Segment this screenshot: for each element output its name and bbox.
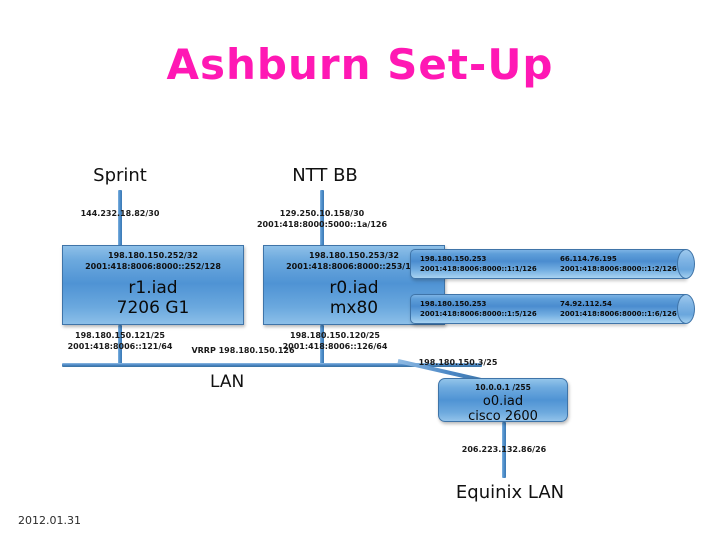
router-r1-model: 7206 G1: [117, 298, 190, 318]
router-r1-loopback-v6: 2001:418:8006:8000::252/128: [85, 262, 221, 271]
uplink-label-equinix: 206.223.132.86/26: [424, 445, 584, 456]
router-r1-name: r1.iad: [128, 278, 177, 298]
router-o0-mgmt-addr: 10.0.0.1 /255: [439, 383, 567, 393]
lan-r1-v4: 198.180.150.121/25: [75, 331, 165, 340]
tunnel-cylinder-1[interactable]: 198.180.150.253 2001:418:8006:8000::1:1/…: [410, 249, 695, 279]
uplink-equinix-v4: 206.223.132.86/26: [462, 445, 546, 454]
tunnel-1-local: 198.180.150.253 2001:418:8006:8000::1:1/…: [420, 254, 537, 274]
tunnel-2-local-v4: 198.180.150.253: [420, 300, 486, 308]
router-r0-loopback-v6: 2001:418:8006:8000::253/128: [286, 262, 422, 271]
provider-label-sprint: Sprint: [60, 165, 180, 186]
vrrp-label: VRRP 198.180.150.126: [123, 346, 363, 357]
uplink-sprint-v4: 144.232.18.82/30: [81, 209, 160, 218]
page-title: Ashburn Set-Up: [0, 40, 720, 89]
router-o0-model: cisco 2600: [468, 409, 538, 424]
router-r0-model: mx80: [330, 298, 378, 318]
router-o0-identity: o0.iad cisco 2600: [439, 394, 567, 425]
router-r0-name: r0.iad: [329, 278, 378, 298]
uplink-ntt-v4: 129.250.10.158/30: [280, 209, 364, 218]
tunnel-2-local: 198.180.150.253 2001:418:8006:8000::1:5/…: [420, 299, 537, 319]
lan-caption: LAN: [210, 372, 244, 392]
slide-date: 2012.01.31: [18, 514, 81, 527]
router-o0-name: o0.iad: [483, 394, 523, 409]
tunnel-2-remote-v4: 74.92.112.54: [560, 300, 612, 308]
tunnel-2-endcap: [677, 294, 695, 324]
uplink-ntt-v6: 2001:418:8000:5000::1a/126: [257, 220, 387, 229]
slide-canvas: Ashburn Set-Up Sprint NTT BB Equinix LAN…: [0, 0, 720, 540]
router-r0-loopback-v4: 198.180.150.253/32: [309, 251, 399, 260]
tunnel-1-remote: 66.114.76.195 2001:418:8006:8000::1:2/12…: [560, 254, 677, 274]
uplink-label-sprint: 144.232.18.82/30: [40, 209, 200, 220]
provider-label-equinix: Equinix LAN: [430, 482, 590, 503]
lan-branch-label: 198.180.150.3/25: [398, 358, 518, 369]
tunnel-1-local-v6: 2001:418:8006:8000::1:1/126: [420, 265, 537, 273]
uplink-label-ntt: 129.250.10.158/30 2001:418:8000:5000::1a…: [242, 209, 402, 231]
router-node-r1[interactable]: 198.180.150.252/32 2001:418:8006:8000::2…: [62, 245, 244, 325]
provider-label-ntt: NTT BB: [265, 165, 385, 186]
lan-r0-v4: 198.180.150.120/25: [290, 331, 380, 340]
tunnel-2-remote: 74.92.112.54 2001:418:8006:8000::1:6/126: [560, 299, 677, 319]
router-r1-loopback-v4: 198.180.150.252/32: [108, 251, 198, 260]
tunnel-1-endcap: [677, 249, 695, 279]
router-node-o0[interactable]: 10.0.0.1 /255 o0.iad cisco 2600: [438, 378, 568, 422]
tunnel-1-local-v4: 198.180.150.253: [420, 255, 486, 263]
router-r1-identity: r1.iad 7206 G1: [63, 278, 243, 318]
tunnel-2-remote-v6: 2001:418:8006:8000::1:6/126: [560, 310, 677, 318]
tunnel-2-local-v6: 2001:418:8006:8000::1:5/126: [420, 310, 537, 318]
router-r1-loopback: 198.180.150.252/32 2001:418:8006:8000::2…: [63, 251, 243, 273]
tunnel-1-remote-v4: 66.114.76.195: [560, 255, 617, 263]
tunnel-cylinder-2[interactable]: 198.180.150.253 2001:418:8006:8000::1:5/…: [410, 294, 695, 324]
tunnel-1-remote-v6: 2001:418:8006:8000::1:2/126: [560, 265, 677, 273]
